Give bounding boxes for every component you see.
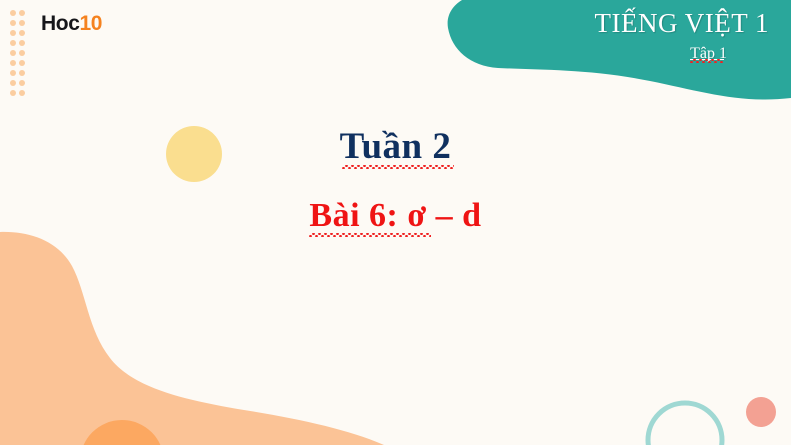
teal-ring-circle: [648, 403, 722, 445]
main-heading-group: Tuần 2 Bài 6: ơ – d: [0, 127, 791, 235]
logo-wordmark: Hoc10: [41, 13, 102, 34]
slide-canvas: Hoc10 TIẾNG VIỆT 1 Tập 1 Tuần 2 Bài 6: ơ…: [0, 0, 791, 445]
header-title-group: TIẾNG VIỆT 1 Tập 1: [595, 8, 769, 63]
volume-spellcheck-squiggle: [690, 59, 723, 63]
week-spellcheck-squiggle: [342, 165, 454, 169]
dot-grid-icon: [10, 10, 28, 100]
lesson-spellcheck-squiggle: [309, 233, 431, 237]
book-volume: Tập 1: [690, 45, 727, 63]
logo-word-dark: Hoc: [41, 12, 79, 35]
week-title: Tuần 2: [340, 127, 452, 167]
salmon-circle: [746, 397, 776, 427]
lesson-title-label: Bài 6: ơ – d: [309, 197, 481, 234]
hoc10-logo[interactable]: Hoc10: [10, 7, 102, 100]
book-title: TIẾNG VIỆT 1: [595, 8, 769, 40]
orange-circle: [80, 420, 164, 445]
lesson-title: Bài 6: ơ – d: [309, 198, 481, 235]
logo-word-accent: 10: [79, 12, 102, 35]
week-title-label: Tuần 2: [340, 126, 452, 167]
peach-bottom-blob: [0, 232, 384, 445]
